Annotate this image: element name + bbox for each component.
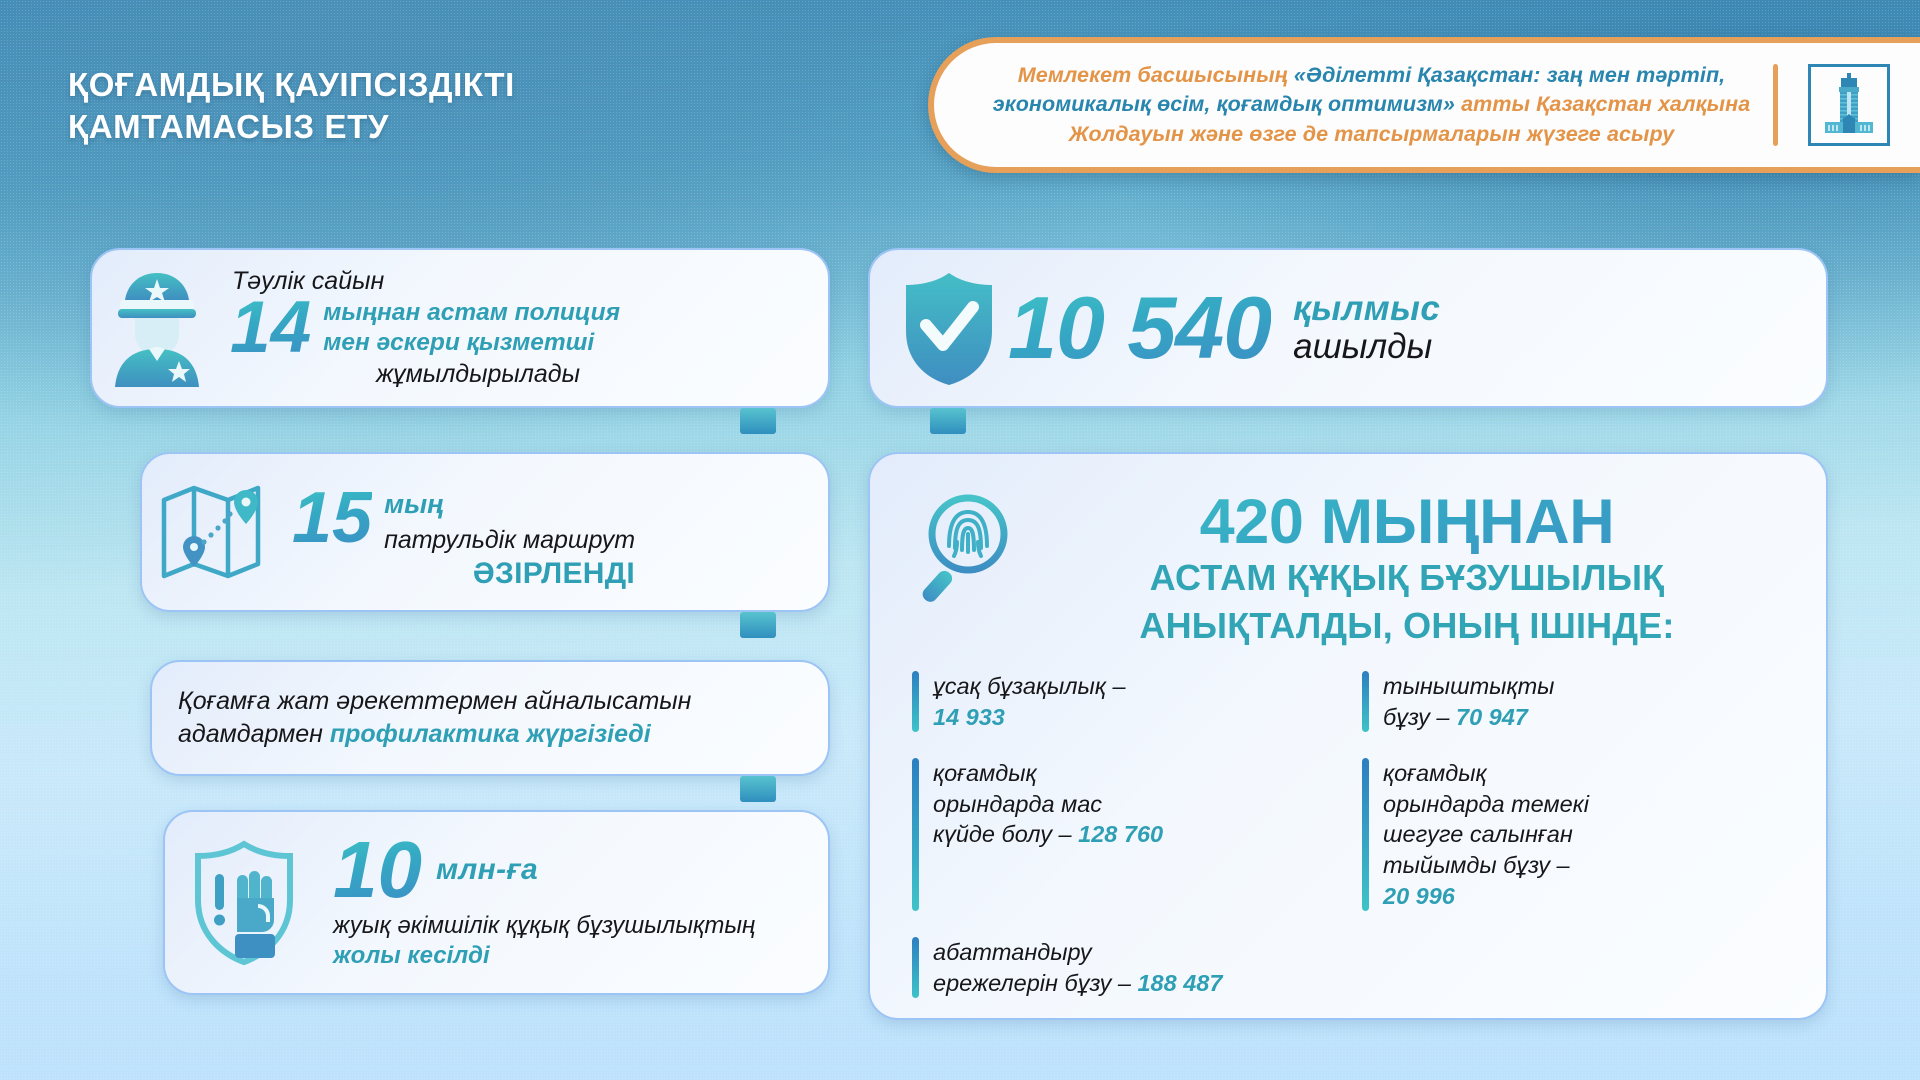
- list-item: қоғамдықорындарда маскүйде болу – 128 76…: [912, 758, 1336, 911]
- shield-hand-warning-icon: [169, 838, 319, 968]
- police-highlight-line-2: мен әскери қызметші: [323, 328, 620, 358]
- item-value: 188 487: [1137, 970, 1222, 996]
- crimes-label-top: қылмыс: [1293, 289, 1440, 329]
- item-value: 14 933: [933, 704, 1005, 730]
- crimes-label-bottom: ашылды: [1293, 327, 1440, 367]
- violations-number: 420 МЫҢНАН: [1028, 490, 1786, 554]
- government-building-emblem: [1808, 64, 1890, 146]
- crimes-card-content: 10 540 қылмыс ашылды: [870, 269, 1440, 387]
- violations-heading-text: 420 МЫҢНАН АСТАМ ҚҰҚЫҚ БҰЗУШЫЛЫҚ АНЫҚТАЛ…: [1024, 490, 1786, 649]
- violations-line-3: АНЫҚТАЛДЫ, ОНЫҢ ІШІНДЕ:: [1028, 602, 1786, 650]
- item-text: тыныштықтыбұзу – 70 947: [1383, 671, 1554, 732]
- list-item: абаттандыруережелерін бұзу – 188 487: [912, 937, 1336, 998]
- prevention-text: Қоғамға жат әрекеттермен айналысатын ада…: [152, 685, 828, 752]
- routes-text: мың патрульдік маршрут ӘЗІРЛЕНДІ: [372, 485, 635, 591]
- connector-tab-2: [740, 612, 776, 638]
- item-bar: [1362, 671, 1369, 732]
- routes-line-3: ӘЗІРЛЕНДІ: [384, 557, 635, 591]
- routes-number: 15: [292, 485, 372, 551]
- admin-text-plain: жуық әкімшілік құқық бұзушылықтың: [333, 912, 755, 939]
- violations-header: 420 МЫҢНАН АСТАМ ҚҰҚЫҚ БҰЗУШЫЛЫҚ АНЫҚТАЛ…: [870, 454, 1826, 649]
- connector-tab-1: [740, 408, 776, 434]
- crimes-number: 10 540: [1008, 288, 1271, 369]
- item-text: қоғамдықорындарда маскүйде болу – 128 76…: [933, 758, 1163, 911]
- list-item: тыныштықтыбұзу – 70 947: [1362, 671, 1786, 732]
- admin-number: 10: [333, 833, 422, 907]
- banner-segment-1: Мемлекет басшысының: [1018, 63, 1288, 87]
- admin-unit: млн-ға: [436, 853, 538, 887]
- item-bar: [912, 758, 919, 911]
- card-crimes-solved: 10 540 қылмыс ашылды: [868, 248, 1828, 408]
- police-highlight: мыңнан астам полиция мен әскери қызметші: [323, 298, 620, 358]
- shield-check-icon: [890, 269, 1008, 387]
- violations-line-2: АСТАМ ҚҰҚЫҚ БҰЗУШЫЛЫҚ: [1028, 554, 1786, 602]
- violations-list: ұсақ бұзақылық –14 933 тыныштықтыбұзу – …: [870, 649, 1826, 1024]
- item-bar: [912, 671, 919, 732]
- item-value: 20 996: [1383, 883, 1455, 909]
- item-text: абаттандыруережелерін бұзу – 188 487: [933, 937, 1222, 998]
- police-number-row: 14 мыңнан астам полиция мен әскери қызме…: [230, 294, 620, 361]
- emblem-container: [1778, 64, 1920, 146]
- police-card-content: Тәулік сайын 14 мыңнан астам полиция мен…: [222, 267, 620, 388]
- admin-text-highlight: жолы кесілді: [333, 942, 490, 969]
- card-patrol-routes: 15 мың патрульдік маршрут ӘЗІРЛЕНДІ: [140, 452, 830, 612]
- police-highlight-line-1: мыңнан астам полиция: [323, 298, 620, 328]
- connector-tab-right: [930, 408, 966, 434]
- card-police-deployment: Тәулік сайын 14 мыңнан астам полиция мен…: [90, 248, 830, 408]
- connector-tab-3: [740, 776, 776, 802]
- page-title: ҚОҒАМДЫҚ ҚАУІПСІЗДІКТІ ҚАМТАМАСЫЗ ЕТУ: [68, 64, 768, 148]
- list-item: қоғамдықорындарда темекішегуге салынғант…: [1362, 758, 1786, 911]
- page-title-line-1: ҚОҒАМДЫҚ ҚАУІПСІЗДІКТІ: [68, 64, 768, 106]
- card-admin-violations: 10 млн-ға жуық әкімшілік құқық бұзушылық…: [163, 810, 830, 995]
- header-banner: Мемлекет басшысының «Әділетті Қазақстан:…: [928, 37, 1920, 173]
- admin-description: жуық әкімшілік құқық бұзушылықтың жолы к…: [333, 911, 828, 971]
- item-value: 128 760: [1078, 821, 1163, 847]
- admin-card-content: 10 млн-ға жуық әкімшілік құқық бұзушылық…: [165, 833, 828, 971]
- card-violations-detected: 420 МЫҢНАН АСТАМ ҚҰҚЫҚ БҰЗУШЫЛЫҚ АНЫҚТАЛ…: [868, 452, 1828, 1020]
- item-bar: [912, 937, 919, 998]
- crimes-labels: қылмыс ашылды: [1271, 289, 1440, 367]
- prevention-text-highlight: профилактика жүргізіеді: [330, 720, 651, 748]
- routes-line-2: патрульдік маршрут: [384, 526, 635, 555]
- police-number: 14: [230, 294, 311, 361]
- card-prevention: Қоғамға жат әрекеттермен айналысатын ада…: [150, 660, 830, 776]
- item-bar: [1362, 758, 1369, 911]
- item-value: 70 947: [1456, 704, 1528, 730]
- list-item: ұсақ бұзақылық –14 933: [912, 671, 1336, 732]
- admin-text: 10 млн-ға жуық әкімшілік құқық бұзушылық…: [319, 833, 828, 971]
- fingerprint-magnifier-icon: [912, 490, 1024, 610]
- banner-text: Мемлекет басшысының «Әділетті Қазақстан:…: [934, 61, 1773, 149]
- item-text: ұсақ бұзақылық –14 933: [933, 671, 1126, 732]
- routes-unit: мың: [384, 489, 635, 520]
- map-route-icon: [142, 478, 282, 586]
- item-text: қоғамдықорындарда темекішегуге салынғант…: [1383, 758, 1589, 911]
- page-title-line-2: ҚАМТАМАСЫЗ ЕТУ: [68, 106, 768, 148]
- routes-card-content: 15 мың патрульдік маршрут ӘЗІРЛЕНДІ: [282, 473, 635, 591]
- police-officer-icon: [92, 269, 222, 387]
